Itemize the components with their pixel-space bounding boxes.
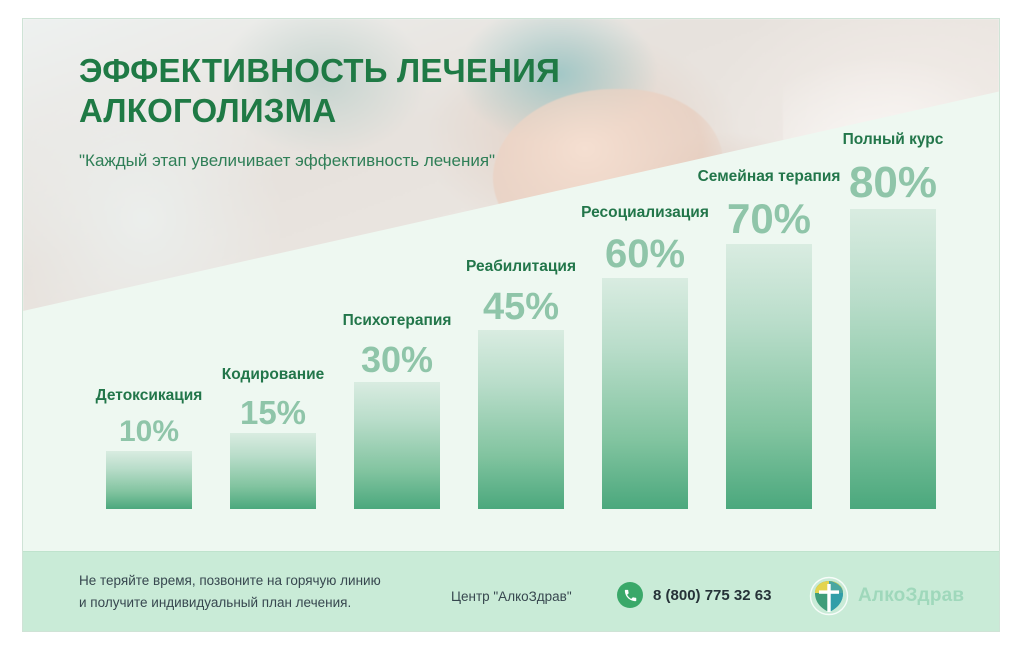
bar-value-label: 80%: [849, 161, 937, 205]
bar-stage-label: Детоксикация: [96, 387, 203, 405]
bar-value-label: 15%: [240, 396, 306, 429]
bar-value-label: 30%: [361, 342, 433, 378]
chart-bar[interactable]: [106, 451, 192, 510]
chart-bar[interactable]: [230, 433, 316, 509]
infographic-poster: ЭФФЕКТИВНОСТЬ ЛЕЧЕНИЯ АЛКОГОЛИЗМА "Кажды…: [22, 18, 1000, 632]
phone-number[interactable]: 8 (800) 775 32 63: [653, 587, 771, 604]
chart-bar[interactable]: [850, 209, 936, 509]
bar-value-label: 45%: [483, 288, 559, 326]
bar-stage-label: Реабилитация: [466, 258, 576, 276]
bar-stage-label: Полный курс: [843, 131, 944, 149]
chart-bar[interactable]: [726, 244, 812, 510]
footer-band: Не теряйте время, позвоните на горячую л…: [23, 551, 999, 631]
bar-value-label: 60%: [605, 234, 685, 274]
center-name: Центр "АлкоЗдрав": [451, 589, 572, 604]
bar-group: 80%Полный курс: [850, 209, 936, 509]
footer-note: Не теряйте время, позвоните на горячую л…: [79, 570, 381, 615]
bar-group: 60%Ресоциализация: [602, 278, 688, 509]
brand-logo[interactable]: АлкоЗдрав: [809, 576, 964, 616]
chart-bar[interactable]: [354, 382, 440, 510]
bar-stage-label: Психотерапия: [343, 312, 452, 330]
bar-group: 70%Семейная терапия: [726, 244, 812, 510]
logo-wordmark: АлкоЗдрав: [858, 585, 964, 607]
bar-stage-label: Семейная терапия: [698, 168, 841, 186]
chart-bar[interactable]: [478, 330, 564, 509]
bar-value-label: 10%: [119, 417, 179, 447]
bar-stage-label: Ресоциализация: [581, 204, 709, 222]
shield-cross-logo-icon: [809, 576, 849, 616]
bar-group: 45%Реабилитация: [478, 330, 564, 509]
bar-value-label: 70%: [727, 198, 811, 240]
bar-group: 10%Детоксикация: [106, 451, 192, 510]
phone-contact[interactable]: 8 (800) 775 32 63: [617, 582, 771, 608]
chart-bar[interactable]: [602, 278, 688, 509]
bar-group: 15%Кодирование: [230, 433, 316, 509]
phone-icon: [617, 582, 643, 608]
bar-chart: 10%Детоксикация15%Кодирование30%Психотер…: [23, 19, 999, 631]
bar-group: 30%Психотерапия: [354, 382, 440, 510]
bar-stage-label: Кодирование: [222, 366, 324, 384]
